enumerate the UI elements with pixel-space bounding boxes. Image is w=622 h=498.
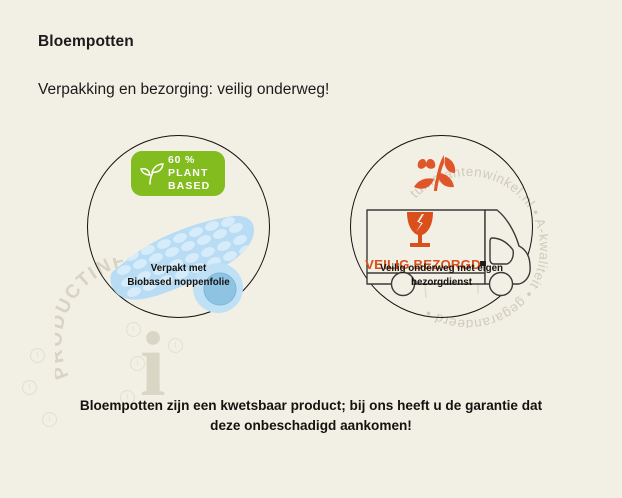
- page-title: Bloempotten: [38, 33, 134, 51]
- panel-delivery: VEILIG BEZORGD Veilig onderweg met eigen…: [350, 135, 533, 318]
- packaging-caption: Verpakt met Biobased noppenfolie: [88, 262, 269, 290]
- bubble-wrap-roll-illustration: [104, 198, 260, 318]
- page-subtitle: Verpakking en bezorging: veilig onderweg…: [38, 81, 329, 99]
- plant-based-line2: BASED: [168, 180, 210, 193]
- plant-based-line1: PLANT: [168, 167, 210, 180]
- plant-sprout-icon: [137, 159, 167, 189]
- delivery-van-illustration: [355, 198, 533, 308]
- plant-butterfly-leaf-icon: [408, 153, 464, 203]
- product-claim-line1: Bloempotten zijn een kwetsbaar product; …: [36, 396, 586, 416]
- delivery-caption: Veilig onderweg met eigen bezorgdienst: [351, 262, 532, 290]
- delivery-caption-line2: bezorgdienst: [351, 276, 532, 290]
- packaging-caption-line1: Verpakt met: [88, 262, 269, 276]
- plant-based-percent: 60 %: [168, 154, 210, 167]
- product-info-card: PRODUCTINFO i i i i i i i i Bloempotten …: [0, 0, 622, 498]
- broken-glass-fragile-icon: [403, 210, 437, 252]
- plant-based-badge: 60 % PLANT BASED: [131, 151, 225, 196]
- product-claim-line2: deze onbeschadigd aankomen!: [36, 416, 586, 436]
- watermark-dot: i: [22, 380, 37, 395]
- packaging-caption-line2: Biobased noppenfolie: [88, 276, 269, 290]
- watermark-dot: i: [168, 338, 183, 353]
- watermark-dot: i: [30, 348, 45, 363]
- panel-packaging: 60 % PLANT BASED Verpakt met Biobased no…: [87, 135, 270, 318]
- watermark-dot: i: [126, 322, 141, 337]
- watermark-dot: i: [130, 356, 145, 371]
- plant-based-badge-text: 60 % PLANT BASED: [167, 154, 210, 192]
- delivery-caption-line1: Veilig onderweg met eigen: [351, 262, 532, 276]
- product-claim: Bloempotten zijn een kwetsbaar product; …: [36, 396, 586, 437]
